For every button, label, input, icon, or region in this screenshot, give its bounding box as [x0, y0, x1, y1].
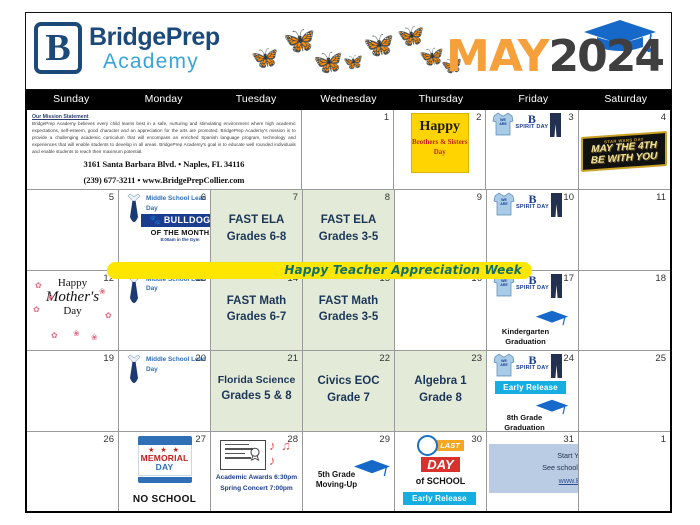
- flower-icon: ❀: [99, 287, 106, 296]
- day-cell-3[interactable]: 3 WE ARE B SPIRIT DAY: [486, 110, 578, 189]
- necktie-icon: [125, 274, 143, 312]
- day-cell-31[interactable]: 31 Start Your Summer Reading! See school…: [487, 432, 579, 511]
- tshirt-icon: WE ARE: [493, 192, 515, 216]
- event-line2: Grades 6-8: [211, 229, 302, 246]
- day-cell-11[interactable]: 11: [579, 190, 670, 269]
- day-number: 2: [476, 112, 481, 123]
- academic-awards-label: Academic Awards 6:30pm: [211, 472, 302, 483]
- jeans-icon: [549, 112, 562, 138]
- svg-text:ARE: ARE: [500, 283, 508, 287]
- eighth-grade-graduation-label: 8th Grade Graduation: [487, 413, 562, 430]
- weekday-wednesday: Wednesday: [302, 90, 394, 108]
- event-text: Algebra 1 Grade 8: [395, 373, 486, 406]
- day-cell-5[interactable]: 5: [27, 190, 119, 269]
- event-text: FAST ELA Grades 3-5: [303, 212, 394, 245]
- tshirt-icon: WE ARE: [492, 112, 514, 136]
- day-number: 31: [563, 434, 574, 445]
- day-number: 23: [471, 353, 482, 364]
- weekday-tuesday: Tuesday: [210, 90, 302, 108]
- event-line1: Algebra 1: [395, 373, 486, 390]
- day-number: 6: [201, 192, 206, 203]
- of-school-label: of SCHOOL: [411, 476, 471, 486]
- day-cell-25[interactable]: 25: [579, 351, 670, 430]
- day-number: 7: [293, 192, 298, 203]
- day-cell-30[interactable]: 30 LAST DAY of SCHOOL Early Release: [395, 432, 487, 511]
- school-name-line2: Academy: [89, 51, 220, 72]
- butterfly-icon: 🦋: [363, 33, 394, 58]
- brothers-sisters-label: Brothers & Sisters Day: [412, 138, 468, 158]
- weekday-header-row: Sunday Monday Tuesday Wednesday Thursday…: [25, 90, 672, 108]
- day-cell-29[interactable]: 29 5th Grade Moving-Up: [303, 432, 395, 511]
- jeans-icon: [550, 192, 563, 218]
- weekday-friday: Friday: [487, 90, 579, 108]
- brothers-sisters-day-poster: Happy Brothers & Sisters Day: [411, 113, 469, 173]
- svg-text:ARE: ARE: [500, 363, 508, 367]
- day-cell-7[interactable]: 7 FAST ELA Grades 6-8: [211, 190, 303, 269]
- svg-text:ARE: ARE: [500, 202, 508, 206]
- bulldog-label: 🐾 BULLDOG: [141, 214, 211, 227]
- school-name-line1: BridgePrep: [89, 25, 220, 50]
- day-cell-4[interactable]: 4 STAR WARS DAY MAY THE 4TH BE WITH YOU: [579, 110, 670, 189]
- event-text: FAST Math Grades 3-5: [303, 293, 394, 326]
- spirit-day-text: SPIRIT DAY: [516, 205, 549, 211]
- mission-title: Our Mission Statement: [32, 114, 296, 120]
- calendar-week-row: Our Mission Statement BridgePrep Academy…: [27, 110, 670, 190]
- day-cell-9[interactable]: 9: [395, 190, 487, 269]
- weekday-saturday: Saturday: [580, 90, 672, 108]
- butterfly-icon: 🦋: [251, 47, 278, 69]
- last-label: LAST: [436, 440, 464, 451]
- day-number: 1: [661, 434, 666, 445]
- no-school-label: NO SCHOOL: [119, 494, 210, 505]
- day-cell-16[interactable]: 16: [395, 271, 487, 350]
- day-cell-14[interactable]: 14 FAST Math Grades 6-7: [211, 271, 303, 350]
- day-label: DAY: [421, 457, 459, 472]
- memorial-banner-bottom: [138, 477, 192, 483]
- day-number: 5: [109, 192, 114, 203]
- day-cell-20[interactable]: 20 Middle School Lead Day: [119, 351, 211, 430]
- day-cell-21[interactable]: 21 Florida Science Grades 5 & 8: [211, 351, 303, 430]
- summer-reading-notice: Start Your Summer Reading! See school si…: [489, 444, 579, 494]
- calendar-week-row: Happy Teacher Appreciation Week 12 Happy…: [27, 271, 670, 351]
- spirit-day-graphic: WE ARE B SPIRIT DAY: [493, 192, 563, 218]
- day-number: 10: [563, 192, 574, 203]
- flower-icon: ✿: [51, 331, 58, 340]
- day-number: 3: [568, 112, 573, 123]
- mission-statement: Our Mission Statement BridgePrep Academy…: [27, 110, 301, 187]
- school-name: BridgePrep Academy: [89, 25, 220, 72]
- memorial-day-label: DAY: [139, 463, 191, 472]
- mission-body: BridgePrep Academy believes every child …: [32, 121, 296, 155]
- event-text: Florida Science Grades 5 & 8: [211, 373, 302, 405]
- day-number: 4: [661, 112, 666, 123]
- day-cell-27[interactable]: 27 ★ ★ ★ MEMORIAL DAY NO SCHOOL: [119, 432, 211, 511]
- event-line1: FAST ELA: [211, 212, 302, 229]
- calendar-week-row: 26 27 ★ ★ ★ MEMORIAL DAY NO SCHOOL 28: [27, 432, 670, 511]
- memorial-banner-body: ★ ★ ★ MEMORIAL DAY: [138, 445, 192, 477]
- event-line1: FAST ELA: [303, 212, 394, 229]
- butterfly-decoration: 🦋 🦋 🦋 🦋 🦋 🦋 🦋 🦋: [251, 23, 466, 83]
- memorial-day-graphic: ★ ★ ★ MEMORIAL DAY: [138, 436, 192, 484]
- calendar-grid: Our Mission Statement BridgePrep Academy…: [25, 108, 672, 513]
- flower-icon: ✿: [33, 305, 40, 314]
- calendar-header-banner: B BridgePrep Academy 🦋 🦋 🦋 🦋 🦋 🦋 🦋 🦋 MAY: [25, 12, 672, 90]
- of-the-month-label: OF THE MONTH: [141, 228, 211, 237]
- month-label: MAY: [446, 31, 549, 82]
- day-cell-22[interactable]: 22 Civics EOC Grade 7: [303, 351, 395, 430]
- weekday-sunday: Sunday: [25, 90, 117, 108]
- event-text: Civics EOC Grade 7: [303, 373, 394, 406]
- school-logo: B BridgePrep Academy: [34, 22, 220, 74]
- star-wars-day-badge: STAR WARS DAY MAY THE 4TH BE WITH YOU: [581, 131, 667, 172]
- memorial-banner-top: [138, 436, 192, 445]
- school-address: 3161 Santa Barbara Blvd. • Naples, FL 34…: [32, 159, 296, 171]
- day-number: 17: [563, 273, 574, 284]
- event-line2: Grade 7: [303, 390, 394, 407]
- year-label: 2024: [549, 31, 663, 82]
- teacher-appreciation-week-banner: Happy Teacher Appreciation Week: [107, 262, 532, 279]
- bulldog-of-the-month-badge: 🐾 BULLDOG OF THE MONTH 8:00am in the Gym: [141, 214, 211, 242]
- event-text: FAST ELA Grades 6-8: [211, 212, 302, 245]
- kindergarten-graduation-label: Kindergarten Graduation: [487, 327, 564, 348]
- day-number: 19: [103, 353, 114, 364]
- flower-icon: ✿: [35, 281, 42, 290]
- event-line2: Grades 3-5: [303, 229, 394, 246]
- paw-icon: 🐾: [150, 215, 162, 225]
- spirit-day-text: SPIRIT DAY: [515, 125, 548, 131]
- event-text: FAST Math Grades 6-7: [211, 293, 302, 326]
- spirit-day-label: B SPIRIT DAY: [516, 353, 549, 372]
- day-cell-mission[interactable]: Our Mission Statement BridgePrep Academy…: [27, 110, 302, 189]
- jeans-icon: [550, 273, 563, 299]
- day-cell-12[interactable]: 12 Happy Mother's Day ✿ ❀ ✿ ❀ ✿ ❀ ✿ ❀: [27, 271, 119, 350]
- day-cell-19[interactable]: 19: [27, 351, 119, 430]
- awards-concert-text: Academic Awards 6:30pm Spring Concert 7:…: [211, 472, 302, 494]
- summer-reading-link[interactable]: www.BridgePrepCollier.com: [493, 475, 579, 488]
- flower-icon: ❀: [91, 333, 98, 342]
- butterfly-icon: 🦋: [397, 25, 424, 47]
- teacher-appreciation-label: Happy Teacher Appreciation Week: [284, 263, 522, 277]
- event-line2: Grades 3-5: [303, 309, 394, 326]
- spirit-day-label: B SPIRIT DAY: [516, 192, 549, 211]
- butterfly-icon: 🦋: [313, 51, 343, 75]
- event-line1: FAST Math: [211, 293, 302, 310]
- svg-text:ARE: ARE: [500, 122, 508, 126]
- day-number: 30: [471, 434, 482, 445]
- summer-reading-line2: See school site for books and projects: [493, 462, 579, 475]
- graduation-cap-icon: [535, 309, 569, 326]
- butterfly-icon: 🦋: [343, 55, 363, 71]
- last-day-of-school-graphic: LAST DAY of SCHOOL: [411, 435, 471, 486]
- certificate-icon: [220, 440, 266, 470]
- spirit-day-graphic: WE ARE B SPIRIT DAY: [493, 353, 563, 379]
- day-cell-15[interactable]: 15 FAST Math Grades 3-5: [303, 271, 395, 350]
- event-line2: Grades 5 & 8: [211, 388, 302, 405]
- day-number: 9: [477, 192, 482, 203]
- day-cell-23[interactable]: 23 Algebra 1 Grade 8: [395, 351, 487, 430]
- day-number: 20: [195, 353, 206, 364]
- day-cell-24[interactable]: 24 WE ARE B SPIRIT DAY Early Relea: [487, 351, 579, 430]
- school-contact: (239) 677-3211 • www.BridgePrepCollier.c…: [32, 175, 296, 187]
- event-line1: Civics EOC: [303, 373, 394, 390]
- day-number: 27: [195, 434, 206, 445]
- early-release-badge: Early Release: [495, 381, 566, 394]
- day-number: 18: [655, 273, 666, 284]
- calendar-page: B BridgePrep Academy 🦋 🦋 🦋 🦋 🦋 🦋 🦋 🦋 MAY: [0, 0, 700, 525]
- necktie-icon: [125, 354, 143, 392]
- day-cell-10[interactable]: 10 WE ARE B SPIRIT DAY: [487, 190, 579, 269]
- day-number: 26: [103, 434, 114, 445]
- spirit-day-label: B SPIRIT DAY: [515, 112, 548, 131]
- happy-label: Happy: [412, 119, 468, 135]
- calendar-week-row: 5 6 Middle School Lead Day 🐾 BULLDOG OF …: [27, 190, 670, 270]
- day-cell-next-1[interactable]: 1: [579, 432, 670, 511]
- event-line2: Grade 8: [395, 390, 486, 407]
- flower-icon: ❀: [73, 329, 80, 338]
- event-line1: FAST Math: [303, 293, 394, 310]
- day-number: 1: [384, 112, 389, 123]
- day-cell-17[interactable]: 17 WE ARE B SPIRIT DAY: [487, 271, 579, 350]
- summer-reading-line1: Start Your Summer Reading!: [493, 450, 579, 463]
- event-line2: Grades 6-7: [211, 309, 302, 326]
- logo-b-mark: B: [34, 22, 82, 74]
- spring-concert-label: Spring Concert 7:00pm: [211, 483, 302, 494]
- day-number: 11: [656, 192, 666, 203]
- flower-icon: ❀: [47, 293, 54, 302]
- weekday-thursday: Thursday: [395, 90, 487, 108]
- award-ribbon-icon: [248, 447, 262, 461]
- spirit-day-text: SPIRIT DAY: [516, 286, 549, 292]
- spirit-day-text: SPIRIT DAY: [516, 366, 549, 372]
- day-cell-6[interactable]: 6 Middle School Lead Day 🐾 BULLDOG OF TH…: [119, 190, 211, 269]
- day-number: 28: [287, 434, 298, 445]
- day-cell-26[interactable]: 26: [27, 432, 119, 511]
- day-cell-18[interactable]: 18: [579, 271, 670, 350]
- flower-icon: ✿: [105, 311, 112, 320]
- weekday-monday: Monday: [117, 90, 209, 108]
- day-number: 22: [379, 353, 390, 364]
- day-number: 25: [655, 353, 666, 364]
- day-cell-28[interactable]: 28 ♪ ♫ ♪ Academic Awards 6:30pm Spring C…: [211, 432, 303, 511]
- bulldog-time-label: 8:00am in the Gym: [141, 237, 211, 242]
- fifth-grade-moving-up-label: 5th Grade Moving-Up: [305, 470, 368, 492]
- event-line1: Florida Science: [211, 373, 302, 388]
- day-cell-8[interactable]: 8 FAST ELA Grades 3-5: [303, 190, 395, 269]
- spirit-day-graphic: WE ARE B SPIRIT DAY: [492, 112, 562, 138]
- day-number: 21: [287, 353, 298, 364]
- calendar-week-row: 19 20 Middle School Lead Day 21 Florida …: [27, 351, 670, 431]
- early-release-badge: Early Release: [403, 492, 476, 505]
- jeans-icon: [550, 353, 563, 379]
- month-year-title: MAY 2024: [446, 31, 663, 82]
- day-cell-1[interactable]: 1: [302, 110, 394, 189]
- day-cell-2[interactable]: 2 Happy Brothers & Sisters Day: [394, 110, 486, 189]
- clock-icon: [417, 435, 438, 456]
- bulldog-text: BULLDOG: [164, 215, 211, 225]
- day-number: 8: [385, 192, 390, 203]
- day-number: 24: [563, 353, 574, 364]
- tshirt-icon: WE ARE: [493, 353, 515, 377]
- butterfly-icon: 🦋: [283, 27, 315, 53]
- day-cell-13[interactable]: 13 Middle School Lead Day: [119, 271, 211, 350]
- day-number: 29: [379, 434, 390, 445]
